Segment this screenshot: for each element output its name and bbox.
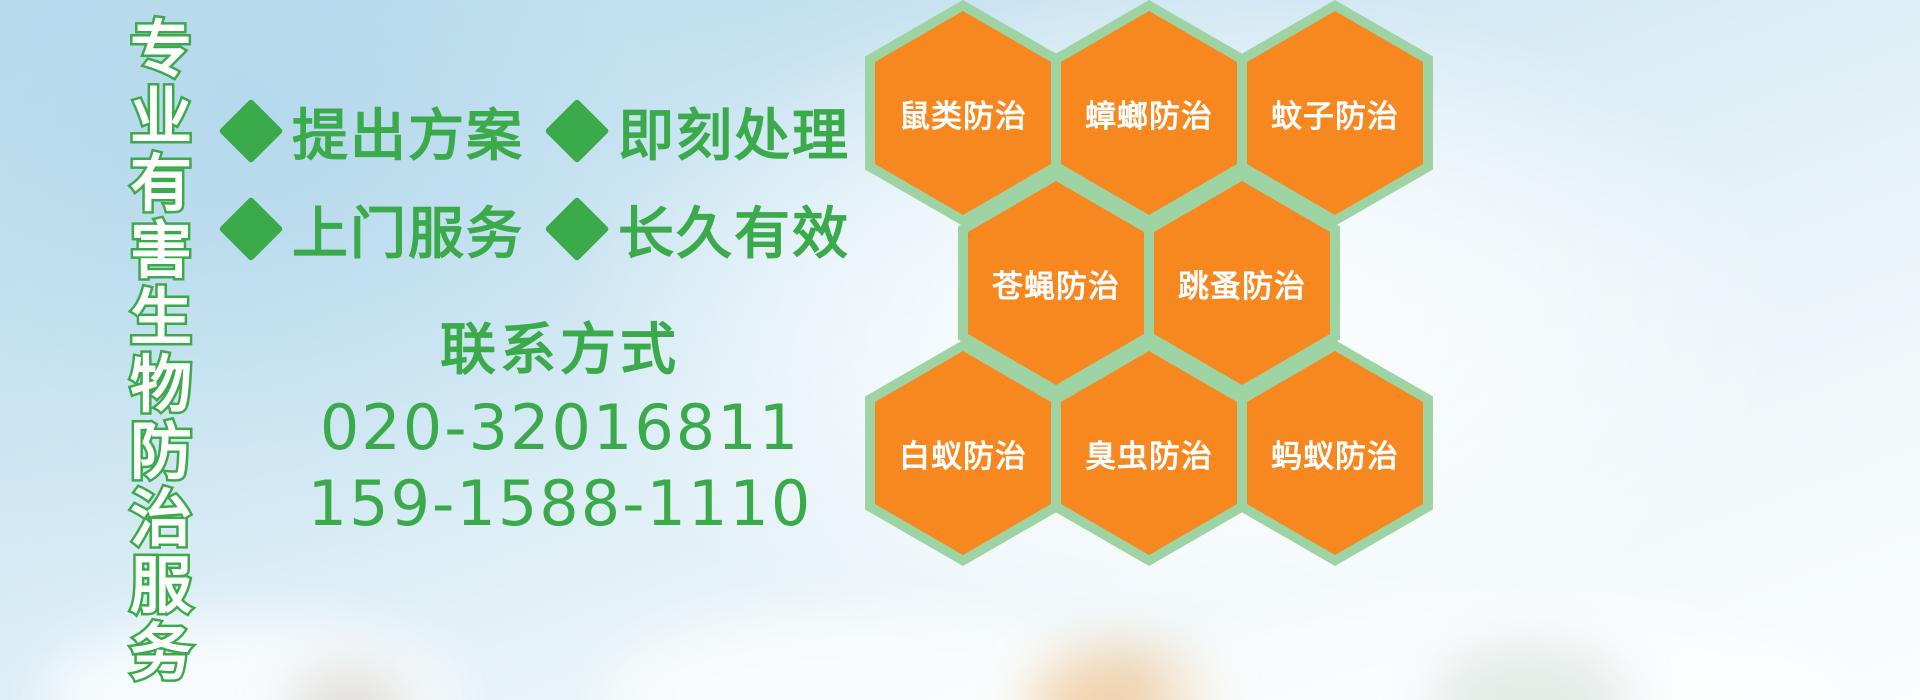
promo-banner: 专 业 有 害 生 物 防 治 服 务 提出方案 即刻处理 上门服务 [0, 0, 1920, 700]
feature-item: 提出方案 [228, 91, 524, 172]
hex-label: 跳蚤防治 [1178, 261, 1306, 306]
background-blur-blob [1430, 645, 1630, 700]
hex-label: 蟑螂防治 [1085, 91, 1213, 136]
feature-label: 提出方案 [292, 91, 524, 172]
headline-char: 防 [130, 418, 192, 485]
background-blur-blob [1150, 600, 1850, 700]
headline-char: 有 [130, 150, 192, 217]
hex-cell-bedbug[interactable]: 臭虫防治 [1051, 340, 1247, 566]
background-blur-blob [40, 620, 460, 700]
headline-char: 害 [130, 217, 192, 284]
contact-title: 联系方式 [300, 312, 820, 390]
service-honeycomb: 鼠类防治 蟑螂防治 蚊子防治 苍蝇防治 跳蚤防治 [855, 0, 1475, 570]
hex-cell-ant[interactable]: 蚂蚁防治 [1237, 340, 1433, 566]
phone-number-landline[interactable]: 020-32016811 [300, 390, 820, 466]
feature-row: 上门服务 长久有效 [228, 180, 868, 278]
diamond-bullet-icon [544, 98, 609, 163]
headline-char: 治 [130, 485, 192, 552]
background-blur-blob [600, 610, 1120, 700]
headline-char: 服 [130, 552, 192, 619]
hex-label: 白蚁防治 [899, 431, 1027, 476]
feature-label: 即刻处理 [618, 91, 850, 172]
feature-row: 提出方案 即刻处理 [228, 82, 868, 180]
hex-label: 鼠类防治 [899, 91, 1027, 136]
hex-label: 蚂蚁防治 [1271, 431, 1399, 476]
headline-char: 业 [130, 83, 192, 150]
vertical-headline: 专 业 有 害 生 物 防 治 服 务 [108, 16, 214, 576]
feature-list: 提出方案 即刻处理 上门服务 长久有效 [228, 82, 868, 278]
hex-label: 臭虫防治 [1085, 431, 1213, 476]
feature-item: 长久有效 [554, 189, 850, 270]
headline-char: 务 [130, 619, 192, 686]
contact-block: 联系方式 020-32016811 159-1588-1110 [300, 312, 820, 542]
diamond-bullet-icon [218, 196, 283, 261]
feature-label: 上门服务 [292, 189, 524, 270]
headline-char: 物 [130, 351, 192, 418]
headline-char: 专 [130, 16, 192, 83]
phone-number-mobile[interactable]: 159-1588-1110 [300, 466, 820, 542]
hex-label: 苍蝇防治 [992, 261, 1120, 306]
feature-label: 长久有效 [618, 189, 850, 270]
diamond-bullet-icon [544, 196, 609, 261]
feature-item: 即刻处理 [554, 91, 850, 172]
hex-cell-termite[interactable]: 白蚁防治 [865, 340, 1061, 566]
diamond-bullet-icon [218, 98, 283, 163]
feature-item: 上门服务 [228, 189, 524, 270]
background-blur-blob [1030, 650, 1210, 700]
background-blur-blob [290, 668, 410, 700]
hex-label: 蚊子防治 [1271, 91, 1399, 136]
headline-char: 生 [130, 284, 192, 351]
